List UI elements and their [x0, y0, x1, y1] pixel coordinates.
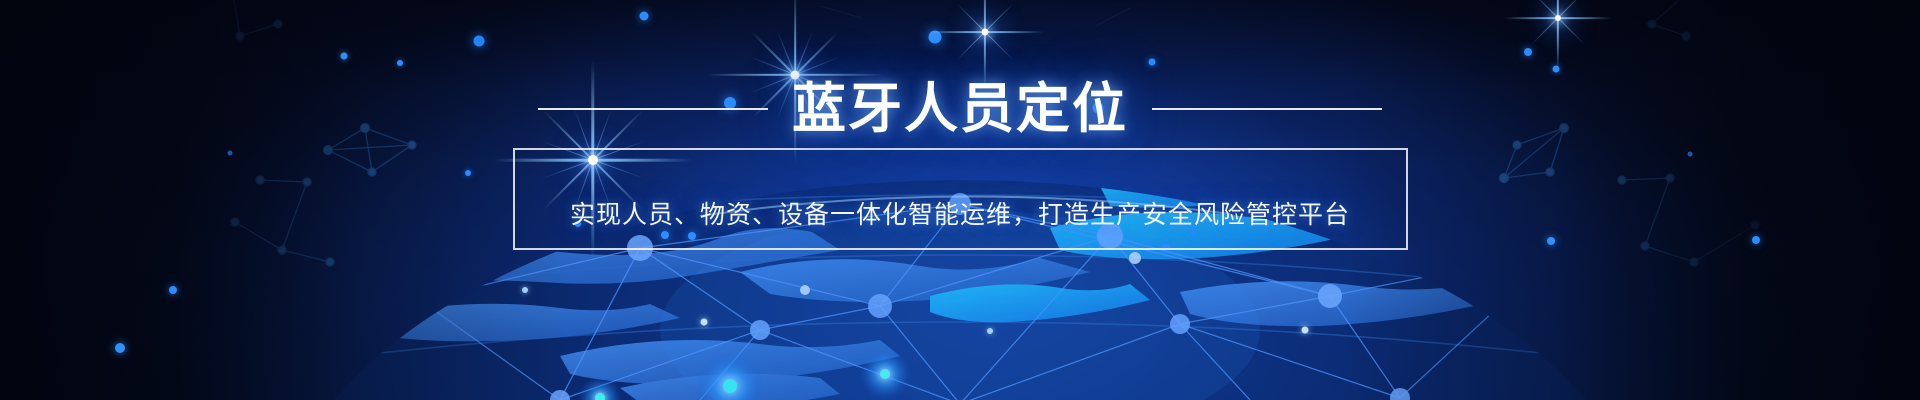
hero-banner: 蓝牙人员定位 实现人员、物资、设备一体化智能运维，打造生产安全风险管控平台	[0, 0, 1920, 400]
text-frame	[513, 148, 1408, 250]
